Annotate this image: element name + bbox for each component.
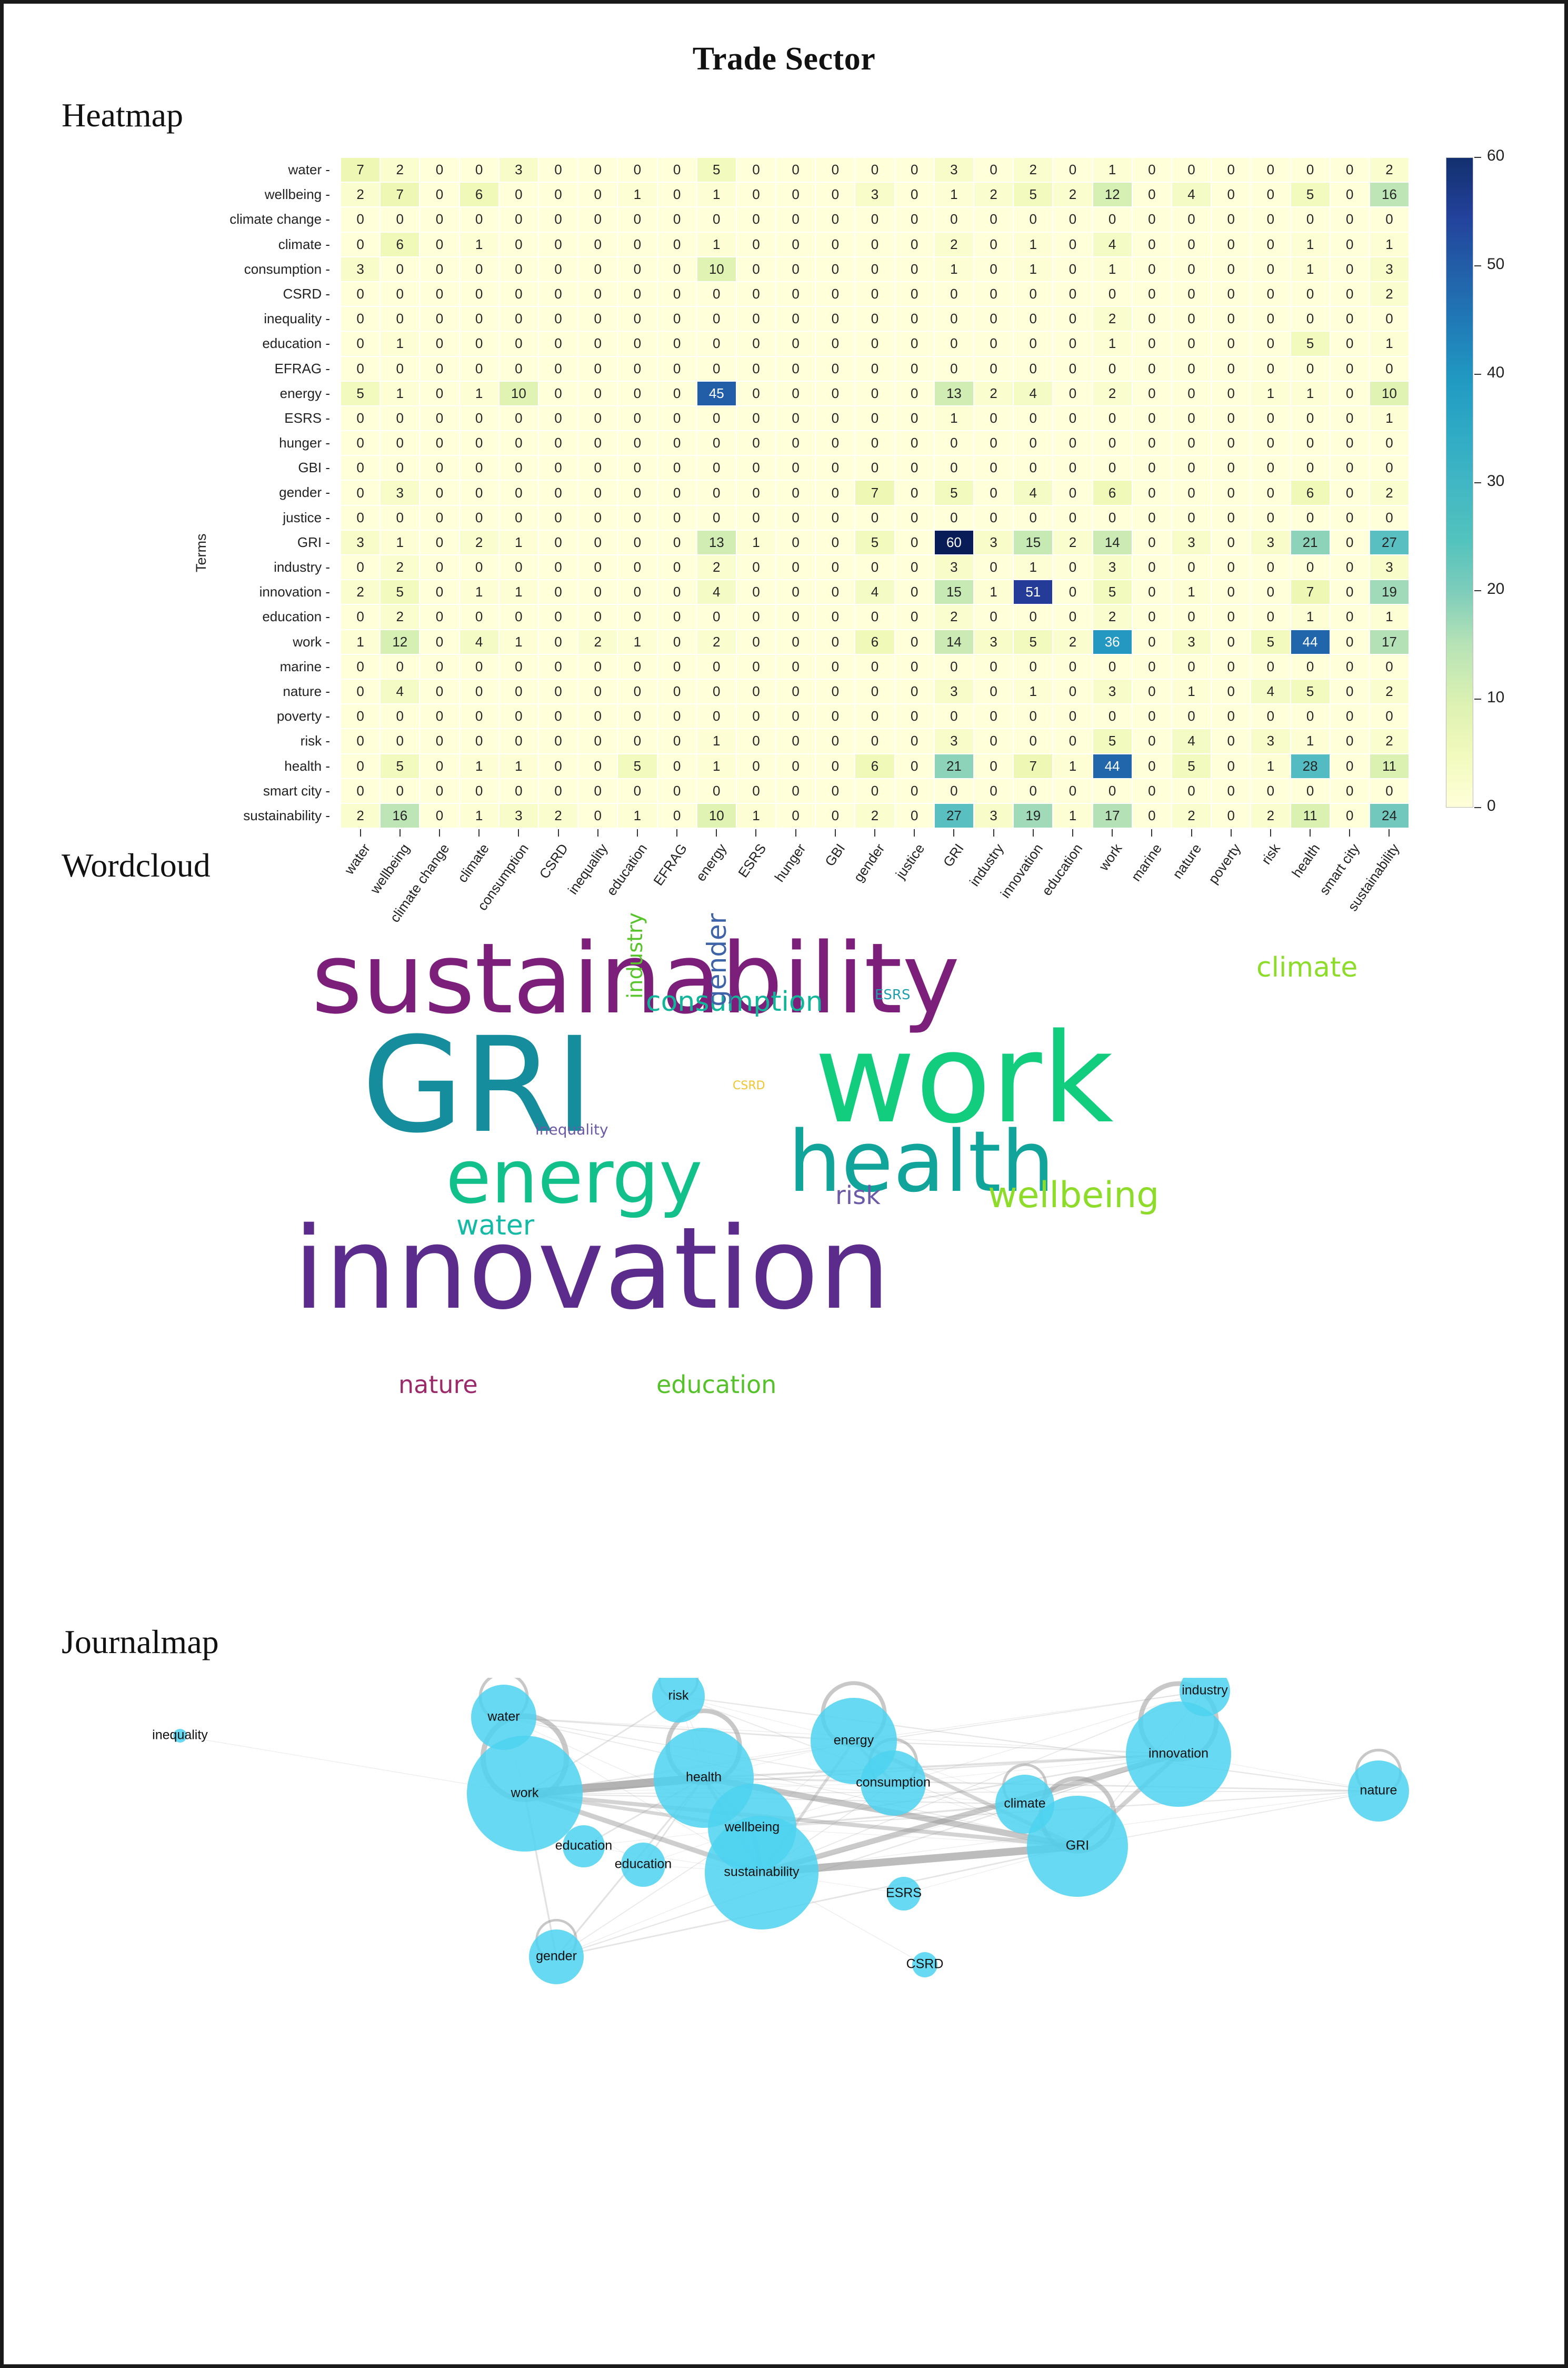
heatmap-cell: 0 [341,356,380,381]
heatmap-cell: 0 [499,704,538,729]
heatmap-cell: 5 [1013,182,1053,207]
heatmap-row-label: industry [225,555,330,580]
heatmap-cell: 1 [934,406,974,431]
heatmap-cell: 0 [657,207,697,232]
heatmap-cell: 0 [1291,207,1330,232]
heatmap-cell: 0 [1330,729,1370,753]
heatmap-x-tick [855,829,894,838]
heatmap-cell: 24 [1370,803,1409,828]
heatmap-cell: 13 [934,381,974,406]
heatmap-cell: 0 [460,306,499,331]
heatmap-cell: 0 [974,779,1013,803]
heatmap-cell: 0 [934,779,974,803]
heatmap-cell: 0 [776,505,815,530]
heatmap-cell: 0 [974,282,1013,306]
heatmap-cell: 0 [1251,356,1290,381]
wordcloud-word: education [656,1372,776,1397]
heatmap-cell: 1 [697,729,736,753]
heatmap-cell: 1 [460,232,499,257]
heatmap-cell: 0 [1172,480,1211,505]
heatmap-cell: 0 [460,331,499,356]
heatmap-cell: 0 [380,207,420,232]
heatmap-cell: 0 [1370,505,1409,530]
heatmap-cell: 3 [1093,679,1132,704]
heatmap-cell: 0 [1251,306,1290,331]
heatmap-cell: 2 [697,555,736,580]
heatmap-row-label: sustainability [225,803,330,828]
heatmap-cell: 0 [420,331,459,356]
heatmap-cell: 0 [1013,455,1053,480]
heatmap-cell: 0 [697,679,736,704]
heatmap-cell: 0 [460,207,499,232]
heatmap-cell: 0 [1132,381,1172,406]
heatmap-cell: 0 [895,803,934,828]
heatmap-cell: 0 [736,356,776,381]
heatmap-cell: 0 [617,779,657,803]
heatmap-cell: 0 [815,157,855,182]
heatmap-cell: 0 [460,480,499,505]
heatmap-cell: 0 [934,455,974,480]
heatmap-cell: 1 [499,580,538,604]
heatmap-cell: 4 [1013,381,1053,406]
heatmap-cell: 0 [815,306,855,331]
heatmap-cell: 4 [380,679,420,704]
heatmap-cell: 0 [776,431,815,455]
heatmap-cell: 0 [538,704,578,729]
heatmap-x-tick [974,829,1013,838]
wordcloud-word: wellbeing [988,1178,1159,1213]
heatmap-cell: 2 [1093,306,1132,331]
heatmap-cell: 0 [420,480,459,505]
journalmap-node-label: industry [1182,1683,1228,1698]
heatmap-cell: 0 [1211,630,1251,654]
heatmap-cell: 1 [1172,580,1211,604]
heatmap-cell: 2 [341,803,380,828]
heatmap-row-label: energy [225,381,330,406]
heatmap-chart: Terms waterwellbeingclimate changeclimat… [4,135,1568,835]
heatmap-cell: 1 [697,754,736,779]
heatmap-cell: 15 [1013,530,1053,555]
heatmap-cell: 0 [499,654,538,679]
heatmap-cell: 1 [1172,679,1211,704]
heatmap-cell: 0 [1132,431,1172,455]
journalmap-node-label: climate [1004,1796,1045,1811]
heatmap-cell: 0 [538,654,578,679]
heatmap-cell: 0 [1093,356,1132,381]
heatmap-cell: 5 [380,580,420,604]
heatmap-cell: 0 [974,406,1013,431]
heatmap-cell: 0 [1330,207,1370,232]
heatmap-cell: 0 [1172,381,1211,406]
heatmap-cell: 0 [538,480,578,505]
heatmap-cell: 0 [617,306,657,331]
heatmap-cell: 44 [1291,630,1330,654]
heatmap-cell: 19 [1013,803,1053,828]
heatmap-cell: 0 [657,232,697,257]
heatmap-cell: 0 [578,803,617,828]
heatmap-cell: 0 [499,729,538,753]
heatmap-cell: 0 [657,803,697,828]
journalmap-node-label: health [686,1770,722,1785]
heatmap-row-label: work [225,630,330,654]
heatmap-cell: 3 [1251,530,1290,555]
heatmap-cell: 0 [776,480,815,505]
heatmap-cell: 0 [657,306,697,331]
heatmap-cell: 1 [1370,604,1409,629]
journalmap-node-label: ESRS [886,1886,922,1901]
heatmap-cell: 2 [1370,157,1409,182]
heatmap-cell: 0 [1251,580,1290,604]
heatmap-cell: 0 [697,480,736,505]
heatmap-cell: 1 [1093,157,1132,182]
heatmap-cell: 5 [1291,331,1330,356]
heatmap-cell: 0 [1053,679,1092,704]
heatmap-cell: 0 [697,604,736,629]
heatmap-cell: 1 [1013,555,1053,580]
heatmap-cell: 0 [895,431,934,455]
heatmap-cell: 0 [420,704,459,729]
heatmap-cell: 0 [1291,306,1330,331]
heatmap-row-label: education [225,331,330,356]
heatmap-cell: 0 [1172,306,1211,331]
heatmap-cell: 0 [1211,580,1251,604]
heatmap-cell: 0 [895,207,934,232]
heatmap-cell: 10 [697,257,736,282]
heatmap-cell: 0 [776,356,815,381]
heatmap-cell: 0 [657,455,697,480]
heatmap-cell: 0 [1291,505,1330,530]
heatmap-cell: 0 [895,604,934,629]
heatmap-cell: 0 [538,331,578,356]
heatmap-cell: 0 [657,530,697,555]
heatmap-cell: 0 [380,455,420,480]
heatmap-cell: 1 [1370,331,1409,356]
journalmap-node-label: GRI [1066,1838,1089,1853]
heatmap-cell: 0 [460,654,499,679]
heatmap-cell: 0 [460,704,499,729]
heatmap-cell: 0 [341,754,380,779]
heatmap-cell: 0 [380,654,420,679]
heatmap-cell: 0 [420,207,459,232]
heatmap-cell: 0 [1330,505,1370,530]
heatmap-cell: 0 [538,406,578,431]
heatmap-cell: 0 [341,431,380,455]
heatmap-cell: 12 [380,630,420,654]
heatmap-cell: 0 [460,157,499,182]
journalmap-node-label: education [615,1857,672,1872]
heatmap-cell: 0 [895,455,934,480]
heatmap-cell: 0 [657,630,697,654]
heatmap-cell: 0 [1172,282,1211,306]
heatmap-x-tick [538,829,578,838]
heatmap-cell: 0 [578,679,617,704]
heatmap-cell: 4 [697,580,736,604]
wordcloud-word: risk [835,1183,881,1208]
heatmap-cell: 1 [736,803,776,828]
heatmap-cell: 0 [1172,604,1211,629]
heatmap-cell: 4 [1013,480,1053,505]
heatmap-cell: 0 [460,455,499,480]
heatmap-cell: 0 [1172,704,1211,729]
heatmap-cell: 0 [1132,356,1172,381]
heatmap-cell: 0 [1132,679,1172,704]
heatmap-cell: 0 [1093,455,1132,480]
heatmap-x-tick [1053,829,1092,838]
heatmap-cell: 0 [855,555,894,580]
heatmap-cell: 0 [1330,580,1370,604]
heatmap-cell: 0 [1172,356,1211,381]
heatmap-cell: 6 [855,754,894,779]
heatmap-cell: 0 [578,406,617,431]
heatmap-cell: 0 [1093,431,1132,455]
heatmap-cell: 6 [855,630,894,654]
heatmap-cell: 0 [578,779,617,803]
heatmap-cell: 27 [1370,530,1409,555]
heatmap-cell: 0 [1211,356,1251,381]
heatmap-cell: 0 [815,207,855,232]
heatmap-cell: 1 [1251,754,1290,779]
heatmap-cell: 5 [380,754,420,779]
heatmap-cell: 0 [855,406,894,431]
heatmap-cell: 0 [460,555,499,580]
heatmap-cell: 0 [1211,381,1251,406]
heatmap-cell: 0 [1172,455,1211,480]
heatmap-cell: 0 [499,306,538,331]
heatmap-cell: 0 [657,257,697,282]
heatmap-cell: 0 [1132,580,1172,604]
heatmap-cell: 0 [538,604,578,629]
journalmap-node-label: innovation [1148,1746,1209,1761]
heatmap-cell: 0 [538,431,578,455]
heatmap-cell: 0 [657,704,697,729]
heatmap-cell: 1 [934,257,974,282]
heatmap-cell: 0 [617,406,657,431]
heatmap-x-tick [460,829,499,838]
heatmap-cell: 0 [380,704,420,729]
heatmap-cell: 0 [697,406,736,431]
heatmap-cell: 3 [934,157,974,182]
heatmap-cell: 0 [538,679,578,704]
heatmap-cell: 0 [1132,803,1172,828]
heatmap-cell: 0 [855,455,894,480]
heatmap-cell: 0 [617,654,657,679]
heatmap-cell: 4 [1251,679,1290,704]
heatmap-cell: 0 [1330,604,1370,629]
heatmap-cell: 5 [1172,754,1211,779]
heatmap-cell: 0 [815,406,855,431]
heatmap-cell: 0 [1172,431,1211,455]
heatmap-cell: 0 [895,232,934,257]
heatmap-cell: 0 [736,505,776,530]
heatmap-cell: 0 [1013,505,1053,530]
heatmap-cell: 0 [1251,431,1290,455]
heatmap-cell: 0 [460,282,499,306]
heatmap-cell: 0 [420,505,459,530]
heatmap-cell: 0 [1370,207,1409,232]
heatmap-cell: 0 [1013,331,1053,356]
heatmap-cell: 0 [974,555,1013,580]
heatmap-cell: 0 [1053,356,1092,381]
heatmap-cell: 0 [1330,530,1370,555]
heatmap-cell: 0 [341,505,380,530]
heatmap-cell: 0 [1211,406,1251,431]
heatmap-cell: 0 [617,331,657,356]
heatmap-cell: 0 [1172,232,1211,257]
heatmap-cell: 0 [1093,282,1132,306]
heatmap-cell: 0 [1132,555,1172,580]
heatmap-cell: 0 [895,480,934,505]
heatmap-cell: 0 [1172,157,1211,182]
heatmap-cell: 0 [815,356,855,381]
heatmap-cell: 4 [855,580,894,604]
heatmap-cell: 0 [697,356,736,381]
heatmap-cell: 0 [1132,779,1172,803]
heatmap-cell: 0 [855,505,894,530]
heatmap-cell: 0 [578,530,617,555]
heatmap-cell: 0 [815,679,855,704]
heatmap-cell: 0 [895,580,934,604]
heatmap-cell: 0 [578,331,617,356]
heatmap-cell: 0 [1330,803,1370,828]
heatmap-cell: 0 [934,505,974,530]
heatmap-cell: 0 [1172,505,1211,530]
heatmap-cell: 0 [855,779,894,803]
heatmap-row-label: climate [225,232,330,257]
heatmap-cell: 0 [420,182,459,207]
heatmap-cell: 0 [499,431,538,455]
heatmap-cell: 0 [1132,232,1172,257]
heatmap-cell: 0 [1330,232,1370,257]
heatmap-cell: 0 [1132,406,1172,431]
heatmap-cell: 0 [380,257,420,282]
heatmap-cell: 0 [776,257,815,282]
heatmap-cell: 0 [657,157,697,182]
heatmap-cell: 2 [1093,381,1132,406]
heatmap-cell: 0 [1172,555,1211,580]
heatmap-cell: 2 [1370,679,1409,704]
heatmap-cell: 0 [657,331,697,356]
heatmap-cell: 0 [736,480,776,505]
heatmap-cell: 0 [736,282,776,306]
heatmap-cell: 2 [1370,729,1409,753]
heatmap-cell: 0 [1291,779,1330,803]
heatmap-cell: 0 [736,580,776,604]
heatmap-cell: 0 [380,431,420,455]
heatmap-cell: 0 [1211,282,1251,306]
heatmap-cell: 3 [341,257,380,282]
heatmap-cell: 0 [697,505,736,530]
heatmap-cell: 0 [380,505,420,530]
heatmap-cell: 1 [1370,232,1409,257]
heatmap-cell: 0 [1053,406,1092,431]
journalmap-node-label: gender [536,1949,577,1964]
heatmap-cell: 0 [736,381,776,406]
heatmap-cell: 0 [499,232,538,257]
heatmap-cell: 2 [460,530,499,555]
heatmap-cell: 0 [1132,157,1172,182]
heatmap-cell: 0 [736,679,776,704]
heatmap-cell: 0 [1370,306,1409,331]
heatmap-cell: 0 [736,157,776,182]
heatmap-cell: 0 [499,555,538,580]
heatmap-cell: 10 [1370,381,1409,406]
heatmap-cell: 0 [776,754,815,779]
heatmap-cell: 2 [855,803,894,828]
heatmap-cell: 0 [578,555,617,580]
heatmap-cell: 5 [617,754,657,779]
heatmap-cell: 0 [895,505,934,530]
heatmap-cell: 0 [380,356,420,381]
heatmap-cell: 1 [736,530,776,555]
heatmap-cell: 0 [341,555,380,580]
journalmap-node-label: nature [1360,1783,1397,1798]
heatmap-cell: 2 [1370,282,1409,306]
heatmap-cell: 0 [776,555,815,580]
heatmap-cell: 0 [855,604,894,629]
heatmap-cell: 0 [815,331,855,356]
heatmap-cell: 0 [815,381,855,406]
heatmap-cell: 0 [460,257,499,282]
heatmap-cell: 0 [1330,654,1370,679]
heatmap-cell: 0 [895,257,934,282]
heatmap-cell: 0 [420,779,459,803]
heatmap-cell: 0 [1330,555,1370,580]
heatmap-x-tick [420,829,459,838]
heatmap-cell: 0 [1132,282,1172,306]
heatmap-cell: 1 [380,530,420,555]
heatmap-cell: 2 [380,555,420,580]
heatmap-cell: 0 [855,331,894,356]
heatmap-cell: 0 [420,555,459,580]
heatmap-cell: 0 [420,580,459,604]
heatmap-cell: 0 [1330,630,1370,654]
heatmap-cell: 0 [617,580,657,604]
heatmap-cell: 0 [380,779,420,803]
heatmap-cell: 0 [420,604,459,629]
heatmap-cell: 0 [1291,704,1330,729]
heatmap-x-tick [1132,829,1172,838]
heatmap-cell: 0 [617,257,657,282]
heatmap-x-tick [1330,829,1370,838]
heatmap-cell: 0 [974,232,1013,257]
heatmap-row-label: water [225,157,330,182]
heatmap-cell: 0 [420,630,459,654]
heatmap-cell: 0 [341,331,380,356]
heatmap-cell: 0 [815,431,855,455]
heatmap-x-tick [341,829,380,838]
heatmap-cell: 0 [895,306,934,331]
heatmap-cell: 12 [1093,182,1132,207]
heatmap-cell: 2 [1013,157,1053,182]
heatmap-cell: 10 [697,803,736,828]
heatmap-cell: 0 [1330,704,1370,729]
heatmap-cell: 0 [1013,431,1053,455]
heatmap-cell: 0 [776,207,815,232]
heatmap-row-label: inequality [225,306,330,331]
heatmap-x-tick [380,829,420,838]
heatmap-cell: 0 [1053,604,1092,629]
heatmap-cell: 0 [895,157,934,182]
heatmap-x-tick [736,829,776,838]
heatmap-cell: 0 [657,282,697,306]
heatmap-cell: 0 [420,306,459,331]
heatmap-row-labels: waterwellbeingclimate changeclimateconsu… [225,157,330,828]
heatmap-cell: 0 [815,505,855,530]
heatmap-cell: 0 [420,803,459,828]
heatmap-cell: 60 [934,530,974,555]
heatmap-cell: 0 [1291,157,1330,182]
heatmap-row-label: smart city [225,779,330,803]
